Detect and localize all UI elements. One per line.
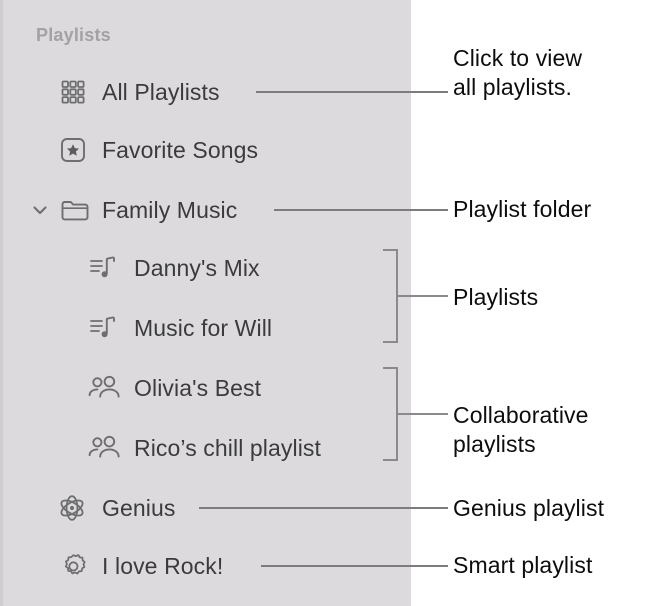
sidebar-item-dannys-mix[interactable]: Danny's Mix	[88, 251, 260, 285]
sidebar-item-label: Music for Will	[134, 315, 272, 342]
annotation-smart-playlist: Smart playlist	[453, 551, 592, 580]
folder-icon	[59, 196, 91, 224]
screenshot-root: Playlists Al	[0, 0, 650, 606]
sidebar-item-label: I love Rock!	[102, 553, 223, 580]
chevron-down-icon[interactable]	[30, 200, 50, 220]
annotation-playlist-folder: Playlist folder	[453, 195, 591, 224]
star-square-icon	[58, 135, 88, 165]
leader-line-playlist-folder	[274, 209, 448, 211]
sidebar-item-genius[interactable]: Genius	[56, 491, 175, 525]
sidebar-item-music-for-will[interactable]: Music for Will	[88, 311, 272, 345]
sidebar-item-ricos-chill-playlist[interactable]: Rico’s chill playlist	[86, 431, 321, 465]
sidebar-item-olivias-best[interactable]: Olivia's Best	[86, 371, 261, 405]
annotation-all-playlists: Click to view all playlists.	[453, 44, 582, 102]
people-icon	[86, 373, 122, 403]
sidebar-section-header-playlists: Playlists	[36, 25, 111, 46]
leader-line-all-playlists	[256, 91, 448, 93]
annotation-playlists: Playlists	[453, 283, 538, 312]
sidebar-item-family-music[interactable]: Family Music	[30, 193, 237, 227]
sidebar-item-label: Family Music	[102, 197, 237, 224]
sidebar-item-i-love-rock[interactable]: I love Rock!	[58, 549, 223, 583]
grid-icon	[58, 77, 88, 107]
gear-icon	[58, 550, 88, 582]
people-icon	[86, 433, 122, 463]
leader-line-playlists	[396, 295, 448, 297]
sidebar-item-label: All Playlists	[102, 79, 220, 106]
leader-line-smart-playlist	[261, 565, 448, 567]
sidebar-item-label: Danny's Mix	[134, 255, 260, 282]
playlist-icon	[88, 313, 120, 343]
atom-icon	[56, 492, 88, 524]
sidebar-item-label: Genius	[102, 495, 175, 522]
leader-line-collaborative-playlists	[396, 413, 448, 415]
sidebar-left-edge	[0, 0, 3, 606]
sidebar-item-label: Olivia's Best	[134, 375, 261, 402]
playlist-icon	[88, 253, 120, 283]
annotation-collaborative-playlists: Collaborative playlists	[453, 401, 589, 459]
sidebar-item-label: Favorite Songs	[102, 137, 258, 164]
leader-line-genius	[199, 507, 448, 509]
sidebar-item-all-playlists[interactable]: All Playlists	[58, 75, 220, 109]
sidebar-item-label: Rico’s chill playlist	[134, 435, 321, 462]
annotation-genius-playlist: Genius playlist	[453, 494, 604, 523]
sidebar-item-favorite-songs[interactable]: Favorite Songs	[58, 133, 258, 167]
